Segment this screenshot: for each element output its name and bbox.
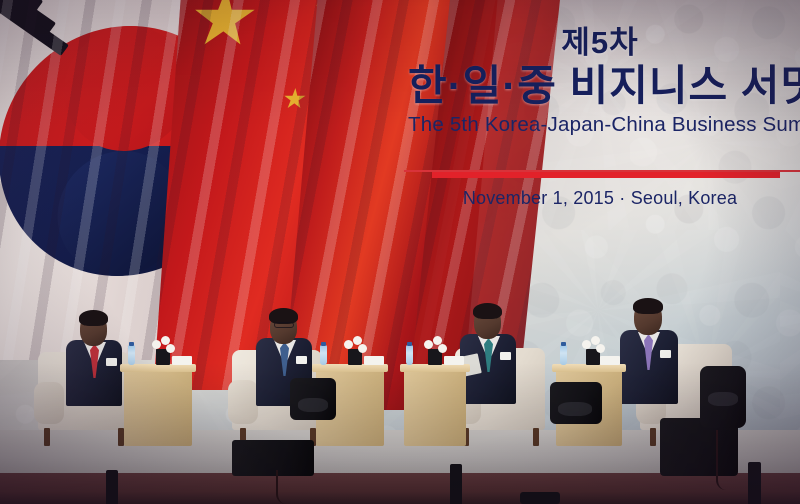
- photo-scene: 제5차 한·일·중 비지니스 서밋 The 5th Korea-Japan-Ch…: [0, 0, 800, 504]
- side-table: [124, 368, 192, 446]
- table-top-edge: [552, 364, 626, 372]
- chair-leg: [533, 428, 539, 446]
- name-badge: [106, 358, 117, 366]
- name-card: [172, 356, 192, 365]
- bottle-cap: [129, 342, 134, 346]
- water-bottle: [560, 345, 567, 365]
- orchid-flower: [582, 340, 591, 349]
- orchid-flower: [344, 340, 353, 349]
- bottle-cap: [321, 342, 326, 346]
- panelist-hair: [79, 310, 108, 326]
- banner-date-location: November 1, 2015 · Seoul, Korea: [400, 188, 800, 209]
- bottle-cap: [407, 342, 412, 346]
- floor-monitor-speaker: [232, 440, 314, 476]
- panelist-hair: [633, 298, 663, 314]
- stage-skirt: [0, 473, 800, 504]
- speaker-grille: [298, 398, 328, 412]
- armchair-arm: [34, 382, 64, 424]
- speaker-grille: [708, 392, 738, 406]
- banner-rule: [432, 172, 780, 178]
- name-card: [600, 356, 620, 365]
- orchid-flower: [152, 340, 161, 349]
- stage-cable: [276, 470, 290, 504]
- water-bottle: [406, 345, 413, 365]
- eyeglasses-icon: [274, 322, 294, 328]
- name-badge: [660, 350, 671, 358]
- table-top-edge: [120, 364, 196, 372]
- orchid-flower: [596, 344, 605, 353]
- stage-cable: [716, 430, 728, 490]
- table-top-edge: [312, 364, 388, 372]
- foreground-post: [450, 464, 462, 504]
- foreground-post: [520, 492, 560, 504]
- banner-edition-ko: 제5차: [400, 26, 800, 60]
- banner-text-block: 제5차 한·일·중 비지니스 서밋 The 5th Korea-Japan-Ch…: [400, 26, 800, 137]
- water-bottle: [128, 345, 135, 365]
- orchid-flower: [166, 344, 175, 353]
- name-card: [444, 356, 464, 365]
- foreground-post: [748, 462, 761, 504]
- banner-title-ko: 한·일·중 비지니스 서밋: [408, 62, 800, 110]
- side-table: [404, 368, 466, 446]
- speaker-grille: [558, 402, 592, 416]
- chair-leg: [650, 428, 656, 446]
- orchid-flower: [438, 344, 447, 353]
- name-badge: [500, 352, 511, 360]
- bottle-cap: [561, 342, 566, 346]
- orchid-flower: [358, 344, 367, 353]
- name-badge: [296, 356, 307, 364]
- chair-leg: [44, 428, 50, 446]
- table-top-edge: [400, 364, 470, 372]
- banner-title-en: The 5th Korea-Japan-China Business Summi…: [408, 113, 800, 137]
- name-card: [364, 356, 384, 365]
- orchid-flower: [424, 340, 433, 349]
- water-bottle: [320, 345, 327, 365]
- panelist-hair: [473, 303, 502, 319]
- armchair-arm: [228, 380, 258, 424]
- foreground-post: [106, 470, 118, 504]
